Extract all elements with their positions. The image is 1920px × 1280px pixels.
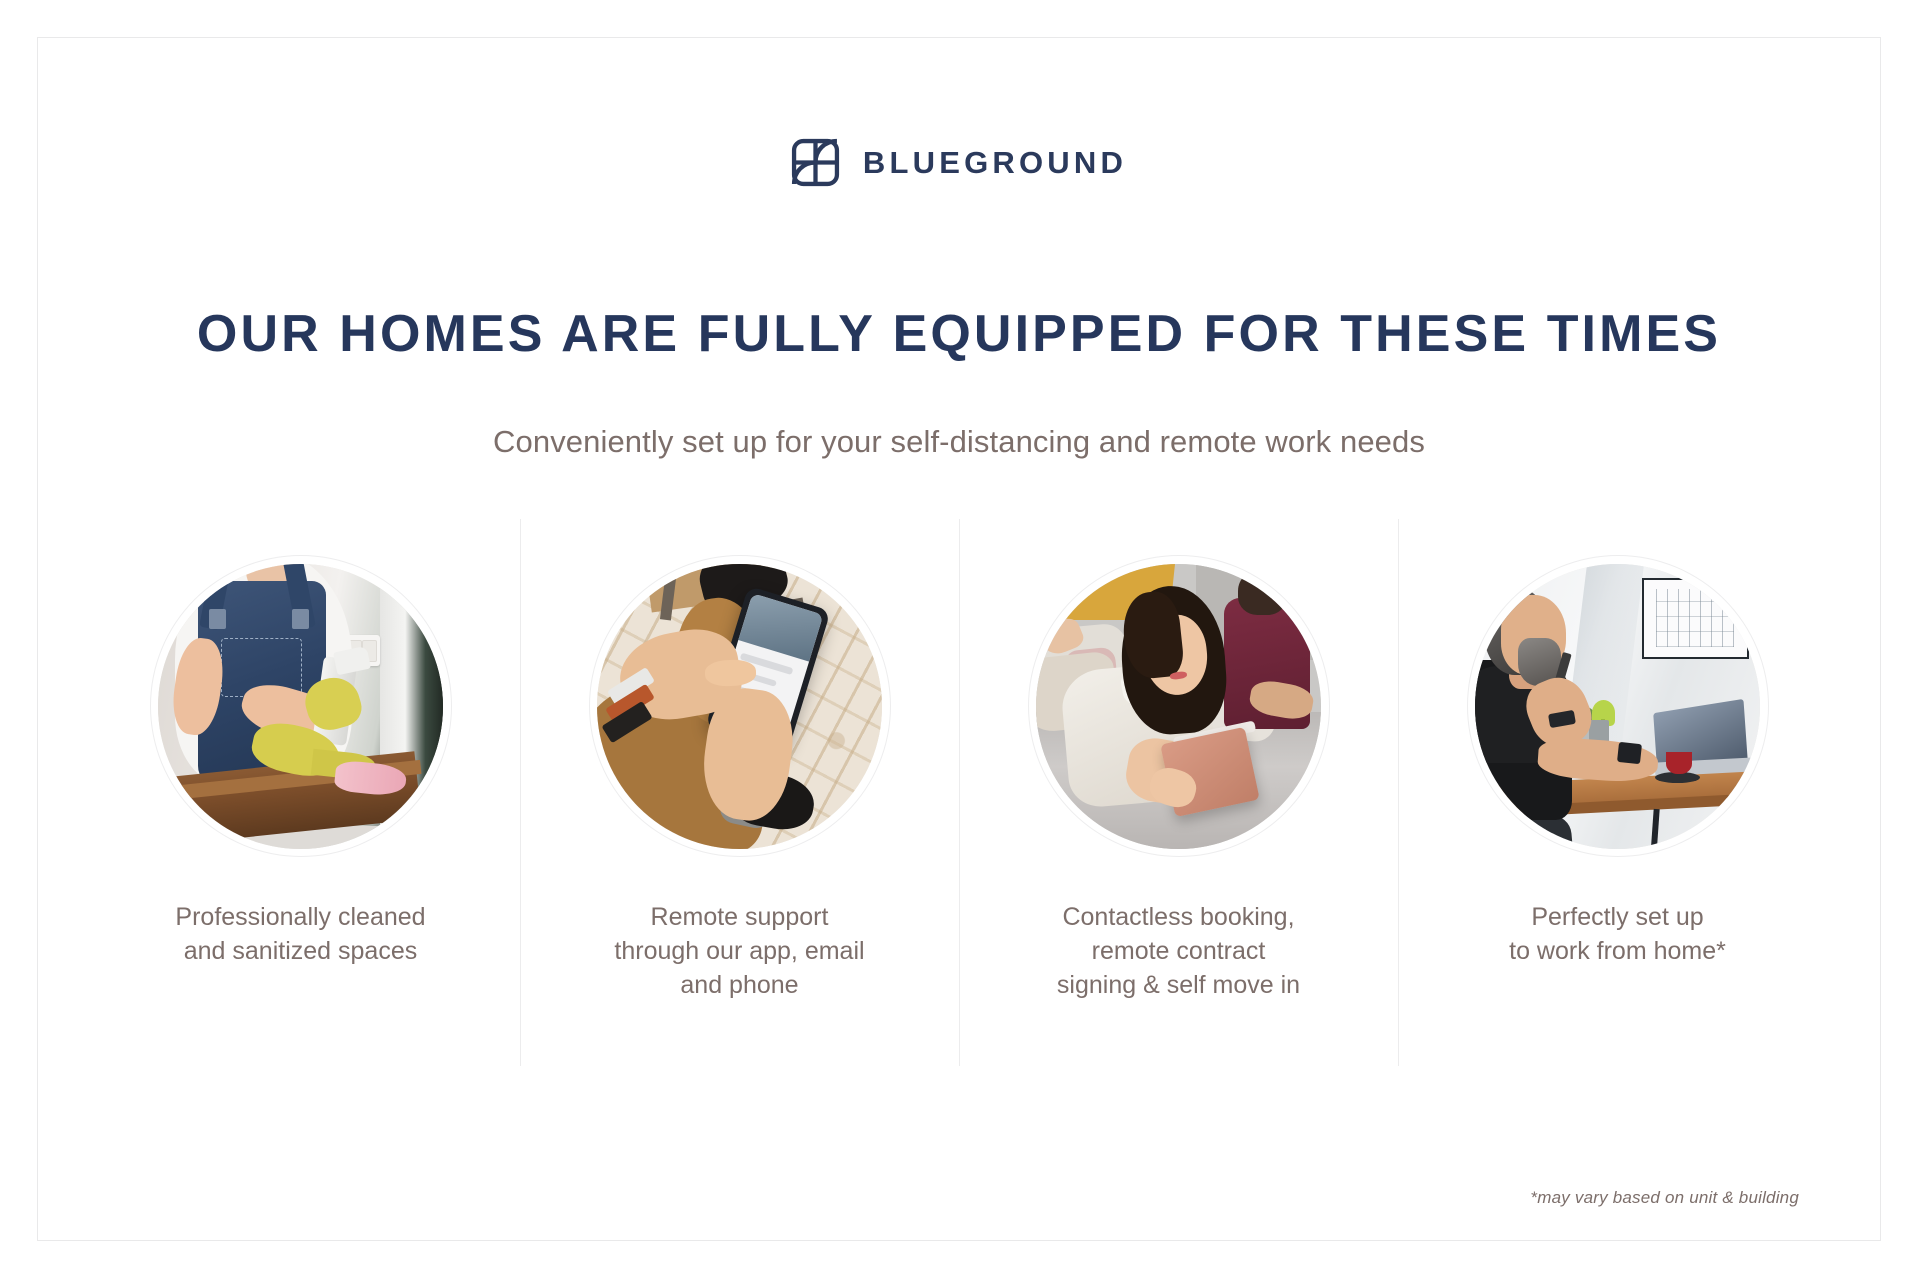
feature-item-work-from-home: Perfectly set up to work from home* — [1398, 519, 1837, 1109]
feature-caption: Professionally cleaned and sanitized spa… — [175, 900, 425, 968]
feature-item-cleaning: Professionally cleaned and sanitized spa… — [81, 519, 520, 1109]
brand-lockup: BLUEGROUND — [38, 138, 1880, 187]
feature-row: Professionally cleaned and sanitized spa… — [81, 519, 1837, 1109]
feature-caption: Perfectly set up to work from home* — [1509, 900, 1726, 968]
blueground-square-logo-icon — [791, 138, 840, 187]
feature-item-remote-support: Remote support through our app, email an… — [520, 519, 959, 1109]
feature-caption: Remote support through our app, email an… — [614, 900, 864, 1002]
feature-item-contactless-booking: Contactless booking, remote contract sig… — [959, 519, 1398, 1109]
feature-image-work-from-home — [1468, 556, 1768, 856]
feature-caption: Contactless booking, remote contract sig… — [1057, 900, 1300, 1002]
feature-image-remote-support — [590, 556, 890, 856]
page-title: OUR HOMES ARE FULLY EQUIPPED FOR THESE T… — [38, 305, 1880, 363]
brand-wordmark: BLUEGROUND — [863, 147, 1127, 178]
feature-image-contactless-booking — [1029, 556, 1329, 856]
footnote: *may vary based on unit & building — [1530, 1188, 1799, 1208]
page-subtitle: Conveniently set up for your self-distan… — [38, 423, 1880, 460]
feature-image-cleaning — [151, 556, 451, 856]
page-frame: BLUEGROUND OUR HOMES ARE FULLY EQUIPPED … — [37, 37, 1881, 1241]
